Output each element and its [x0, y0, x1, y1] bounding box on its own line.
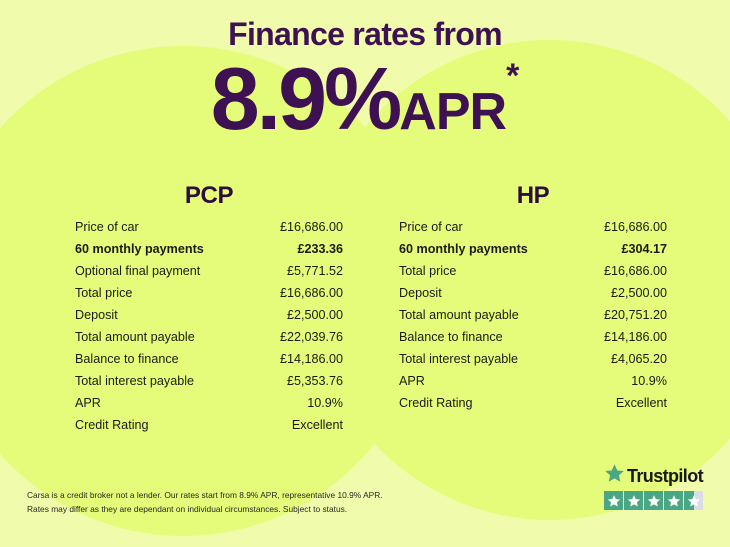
plan-row-value: £5,771.52 — [287, 264, 343, 278]
plan-row-label: APR — [399, 374, 425, 388]
plan-row-label: Total interest payable — [75, 374, 194, 388]
plan-row-label: Deposit — [75, 308, 118, 322]
trustpilot-wordmark: Trustpilot — [604, 465, 708, 487]
plan-row-label: Total price — [399, 264, 456, 278]
plan-row-value: £233.36 — [297, 242, 343, 256]
plan-row-value: Excellent — [292, 418, 343, 432]
plan-row-value: £22,039.76 — [280, 330, 343, 344]
plan-row-label: Total amount payable — [399, 308, 519, 322]
headline-subtitle: Finance rates from — [0, 16, 730, 53]
plan-row-label: 60 monthly payments — [399, 242, 528, 256]
plan-row-value: £16,686.00 — [604, 264, 667, 278]
plan-row: Deposit£2,500.00 — [75, 308, 343, 330]
plan-row-value: £2,500.00 — [287, 308, 343, 322]
trustpilot-name: Trustpilot — [627, 466, 703, 487]
plan-hp: HP Price of car£16,686.0060 monthly paym… — [399, 182, 667, 418]
plan-row: Total price£16,686.00 — [399, 264, 667, 286]
trustpilot-star-icon — [644, 491, 663, 510]
plan-row-value: £14,186.00 — [604, 330, 667, 344]
plan-hp-title: HP — [399, 182, 667, 210]
disclaimer-line-1: Carsa is a credit broker not a lender. O… — [27, 489, 457, 503]
plan-row: Credit RatingExcellent — [75, 418, 343, 440]
trustpilot-widget[interactable]: Trustpilot — [604, 465, 708, 510]
plan-row: Total amount payable£20,751.20 — [399, 308, 667, 330]
plan-row-label: Deposit — [399, 286, 442, 300]
plan-row: Deposit£2,500.00 — [399, 286, 667, 308]
plan-row: Total interest payable£5,353.76 — [75, 374, 343, 396]
trustpilot-star-icon — [624, 491, 643, 510]
plan-row: APR10.9% — [75, 396, 343, 418]
plan-hp-rows: Price of car£16,686.0060 monthly payment… — [399, 220, 667, 418]
trustpilot-half-star-icon — [684, 491, 703, 510]
plan-row-value: £304.17 — [621, 242, 667, 256]
plan-row-value: £16,686.00 — [280, 220, 343, 234]
plan-row: Total price£16,686.00 — [75, 286, 343, 308]
plan-row-value: 10.9% — [631, 374, 667, 388]
trustpilot-star-icon — [604, 491, 623, 510]
plan-row-label: Balance to finance — [399, 330, 503, 344]
plan-row: Balance to finance£14,186.00 — [399, 330, 667, 352]
headline-apr-label: APR — [399, 83, 506, 141]
disclaimer-line-2: Rates may differ as they are dependant o… — [27, 503, 457, 517]
headline-asterisk: * — [506, 57, 519, 95]
trustpilot-star-icon — [664, 491, 683, 510]
plan-row: Price of car£16,686.00 — [75, 220, 343, 242]
plan-row: 60 monthly payments£233.36 — [75, 242, 343, 264]
plan-row: APR10.9% — [399, 374, 667, 396]
plan-row-label: 60 monthly payments — [75, 242, 204, 256]
plan-row-value: £2,500.00 — [611, 286, 667, 300]
plan-row-value: £16,686.00 — [604, 220, 667, 234]
plan-row-label: Optional final payment — [75, 264, 200, 278]
plan-pcp-rows: Price of car£16,686.0060 monthly payment… — [75, 220, 343, 440]
plan-pcp-title: PCP — [75, 182, 343, 210]
plan-row-label: Price of car — [75, 220, 139, 234]
plan-row-label: Total price — [75, 286, 132, 300]
headline-main: 8.9%APR* — [0, 55, 730, 143]
headline-rate-value: 8.9% — [211, 49, 400, 148]
plan-row: Total amount payable£22,039.76 — [75, 330, 343, 352]
plan-row-label: Credit Rating — [399, 396, 473, 410]
disclaimer: Carsa is a credit broker not a lender. O… — [27, 489, 457, 517]
plan-row: 60 monthly payments£304.17 — [399, 242, 667, 264]
plan-row-value: Excellent — [616, 396, 667, 410]
plan-row: Balance to finance£14,186.00 — [75, 352, 343, 374]
plan-row-label: Total interest payable — [399, 352, 518, 366]
plan-row-value: 10.9% — [307, 396, 343, 410]
headline-block: Finance rates from 8.9%APR* — [0, 16, 730, 143]
plan-row: Credit RatingExcellent — [399, 396, 667, 418]
plan-row-value: £5,353.76 — [287, 374, 343, 388]
plan-row-value: £14,186.00 — [280, 352, 343, 366]
trustpilot-star-icon — [604, 463, 625, 489]
plan-row-value: £20,751.20 — [604, 308, 667, 322]
finance-rates-banner: Finance rates from 8.9%APR* PCP Price of… — [0, 0, 730, 547]
trustpilot-star-rating — [604, 491, 708, 510]
plan-row-label: APR — [75, 396, 101, 410]
plan-row-value: £4,065.20 — [611, 352, 667, 366]
plan-row: Optional final payment£5,771.52 — [75, 264, 343, 286]
plan-row-label: Price of car — [399, 220, 463, 234]
plan-row-value: £16,686.00 — [280, 286, 343, 300]
plan-row-label: Balance to finance — [75, 352, 179, 366]
plan-row: Price of car£16,686.00 — [399, 220, 667, 242]
plan-pcp: PCP Price of car£16,686.0060 monthly pay… — [75, 182, 343, 440]
plan-row-label: Total amount payable — [75, 330, 195, 344]
plan-row: Total interest payable£4,065.20 — [399, 352, 667, 374]
plan-row-label: Credit Rating — [75, 418, 149, 432]
